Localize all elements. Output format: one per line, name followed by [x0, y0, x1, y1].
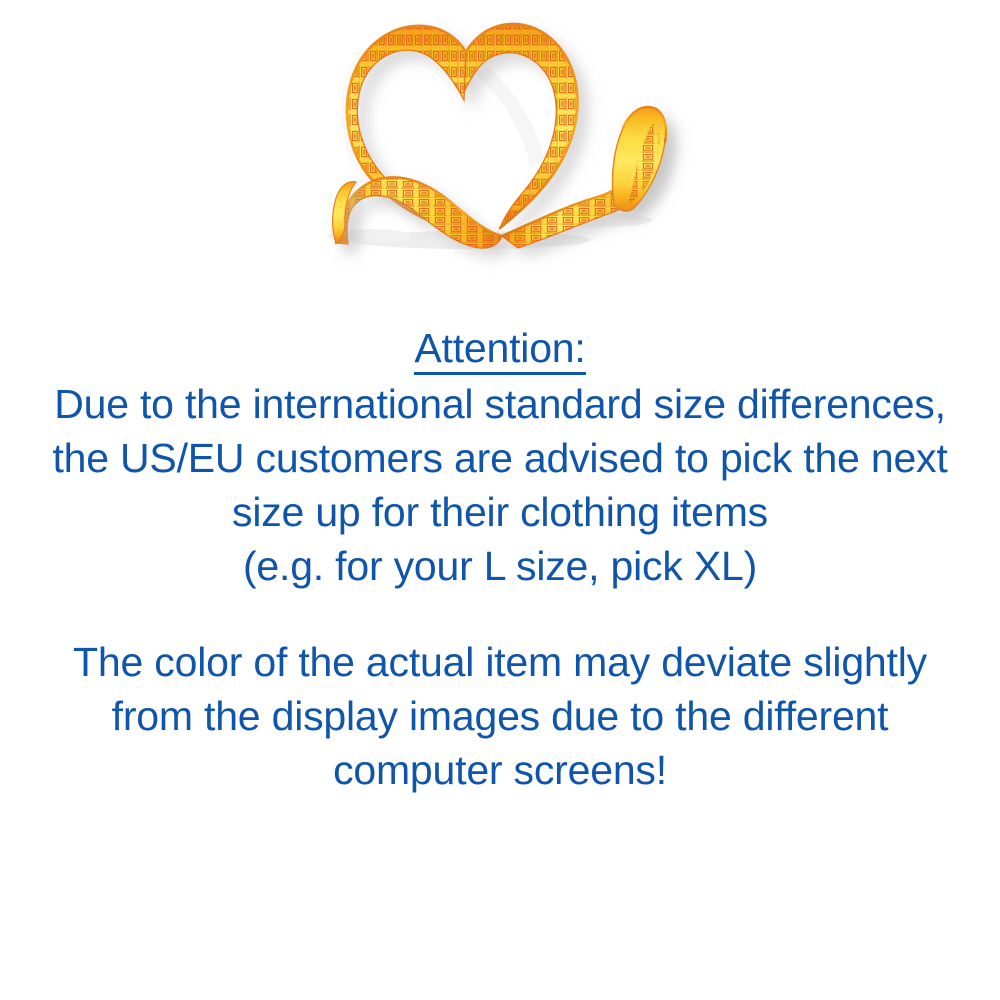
notice-p2-line-1: The color of the actual item may deviate…: [0, 635, 1000, 689]
notice-p1-line-3: size up for their clothing items: [0, 485, 1000, 539]
notice-p2-line-3: computer screens!: [0, 743, 1000, 797]
measuring-tape-heart-illustration: [0, 0, 1000, 300]
notice-heading-line: Attention:: [0, 322, 1000, 375]
notice-paragraph-1: Due to the international standard size d…: [0, 377, 1000, 593]
notice-p1-line-2: the US/EU customers are advised to pick …: [0, 431, 1000, 485]
size-notice-page: Attention: Due to the international stan…: [0, 0, 1000, 1000]
tape-shadow: [328, 48, 652, 249]
notice-paragraph-spacer: [0, 593, 1000, 635]
notice-p1-line-1: Due to the international standard size d…: [0, 377, 1000, 431]
size-notice-text: Attention: Due to the international stan…: [0, 322, 1000, 797]
notice-p1-line-4: (e.g. for your L size, pick XL): [0, 539, 1000, 593]
notice-paragraph-2: The color of the actual item may deviate…: [0, 635, 1000, 797]
notice-heading: Attention:: [414, 325, 585, 375]
notice-p2-line-2: from the display images due to the diffe…: [0, 689, 1000, 743]
